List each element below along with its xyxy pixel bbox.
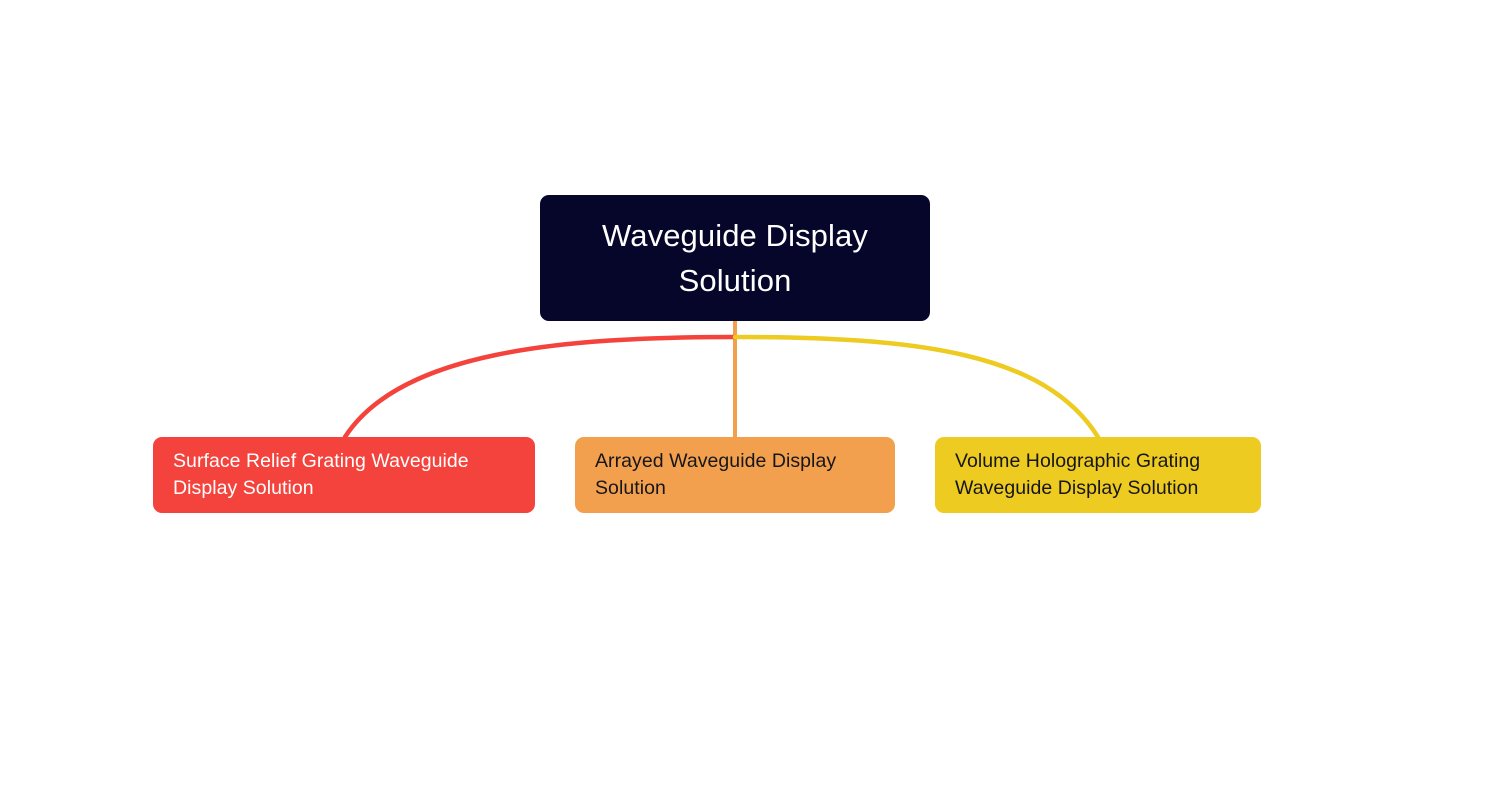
child-node-label: Surface Relief Grating Waveguide Display… (153, 448, 535, 502)
root-node-label: Waveguide Display Solution (540, 213, 930, 303)
mindmap-child-node-volume-holographic-grating[interactable]: Volume Holographic Grating Waveguide Dis… (935, 437, 1261, 513)
mindmap-child-node-arrayed-waveguide[interactable]: Arrayed Waveguide Display Solution (575, 437, 895, 513)
connector-layer (0, 0, 1500, 806)
child-node-label: Arrayed Waveguide Display Solution (575, 448, 895, 502)
mindmap-child-node-surface-relief-grating[interactable]: Surface Relief Grating Waveguide Display… (153, 437, 535, 513)
child-node-label: Volume Holographic Grating Waveguide Dis… (935, 448, 1261, 502)
mindmap-root-node[interactable]: Waveguide Display Solution (540, 195, 930, 321)
connector-to-child-0 (345, 337, 735, 437)
connector-to-child-2 (735, 337, 1098, 437)
mind-map-canvas: Waveguide Display Solution Surface Relie… (0, 0, 1500, 806)
